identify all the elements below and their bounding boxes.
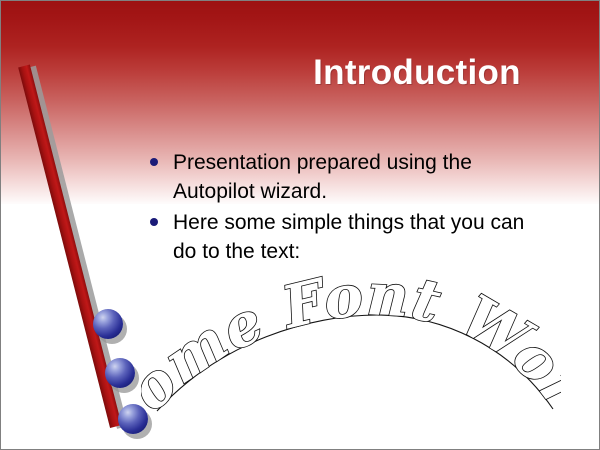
slide-title[interactable]: Introduction xyxy=(301,53,533,93)
presentation-slide: Introduction Presentation prepared using… xyxy=(0,0,600,450)
wordart-object[interactable]: Some Font Work xyxy=(141,259,561,419)
wordart-text: Some Font Work xyxy=(141,259,561,419)
bullet-dot-icon xyxy=(150,218,158,226)
list-item[interactable]: Here some simple things that you can do … xyxy=(147,208,587,266)
list-item-label: Here some simple things that you can do … xyxy=(173,208,587,266)
list-item[interactable]: Presentation prepared using the Autopilo… xyxy=(147,148,587,206)
decorative-sphere-2 xyxy=(105,358,135,388)
list-item-label: Presentation prepared using the Autopilo… xyxy=(173,148,587,206)
decorative-sphere-1 xyxy=(93,309,123,339)
bullet-dot-icon xyxy=(150,158,158,166)
bullet-list: Presentation prepared using the Autopilo… xyxy=(147,148,587,268)
